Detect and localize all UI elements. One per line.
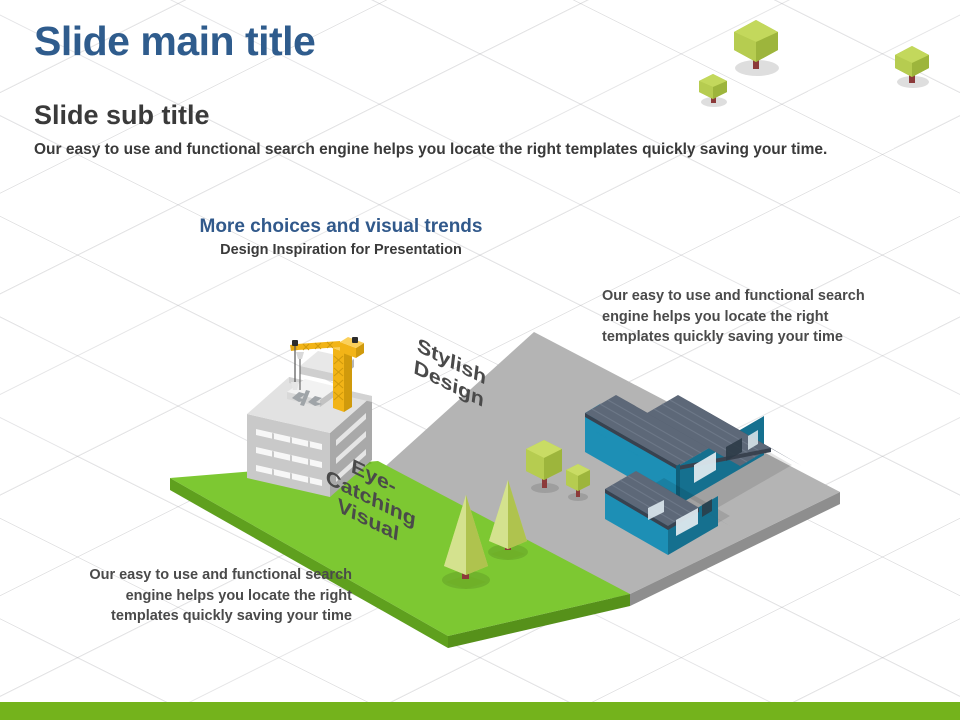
bottom-accent-bar [0, 702, 960, 720]
page-subtitle: Slide sub title [34, 100, 210, 131]
platform-label-eye-catching-visual: Eye- Catching Visual [322, 444, 420, 553]
page-title: Slide main title [34, 18, 315, 65]
slide-canvas: Stylish Design Eye- Catching Visual Slid… [0, 0, 960, 720]
lifted-slab [287, 379, 338, 407]
cone-tree [442, 495, 490, 589]
callout-text-left: Our easy to use and functional search en… [70, 565, 352, 627]
box-tree [526, 440, 562, 493]
section-subheading: Design Inspiration for Presentation [0, 242, 960, 258]
platform-label-stylish-design: Stylish Design [413, 334, 488, 412]
blue-warehouse-large [585, 395, 802, 720]
polygon-tree [895, 46, 929, 88]
tower-crane [290, 337, 364, 412]
section-heading: More choices and visual trends [0, 216, 960, 238]
box-tree [566, 464, 590, 501]
lead-paragraph: Our easy to use and functional search en… [34, 141, 827, 159]
callout-text-right: Our easy to use and functional search en… [602, 286, 874, 348]
blue-warehouse-small [605, 471, 730, 720]
polygon-tree [734, 20, 779, 76]
polygon-tree [699, 74, 727, 107]
cone-tree [488, 480, 528, 560]
